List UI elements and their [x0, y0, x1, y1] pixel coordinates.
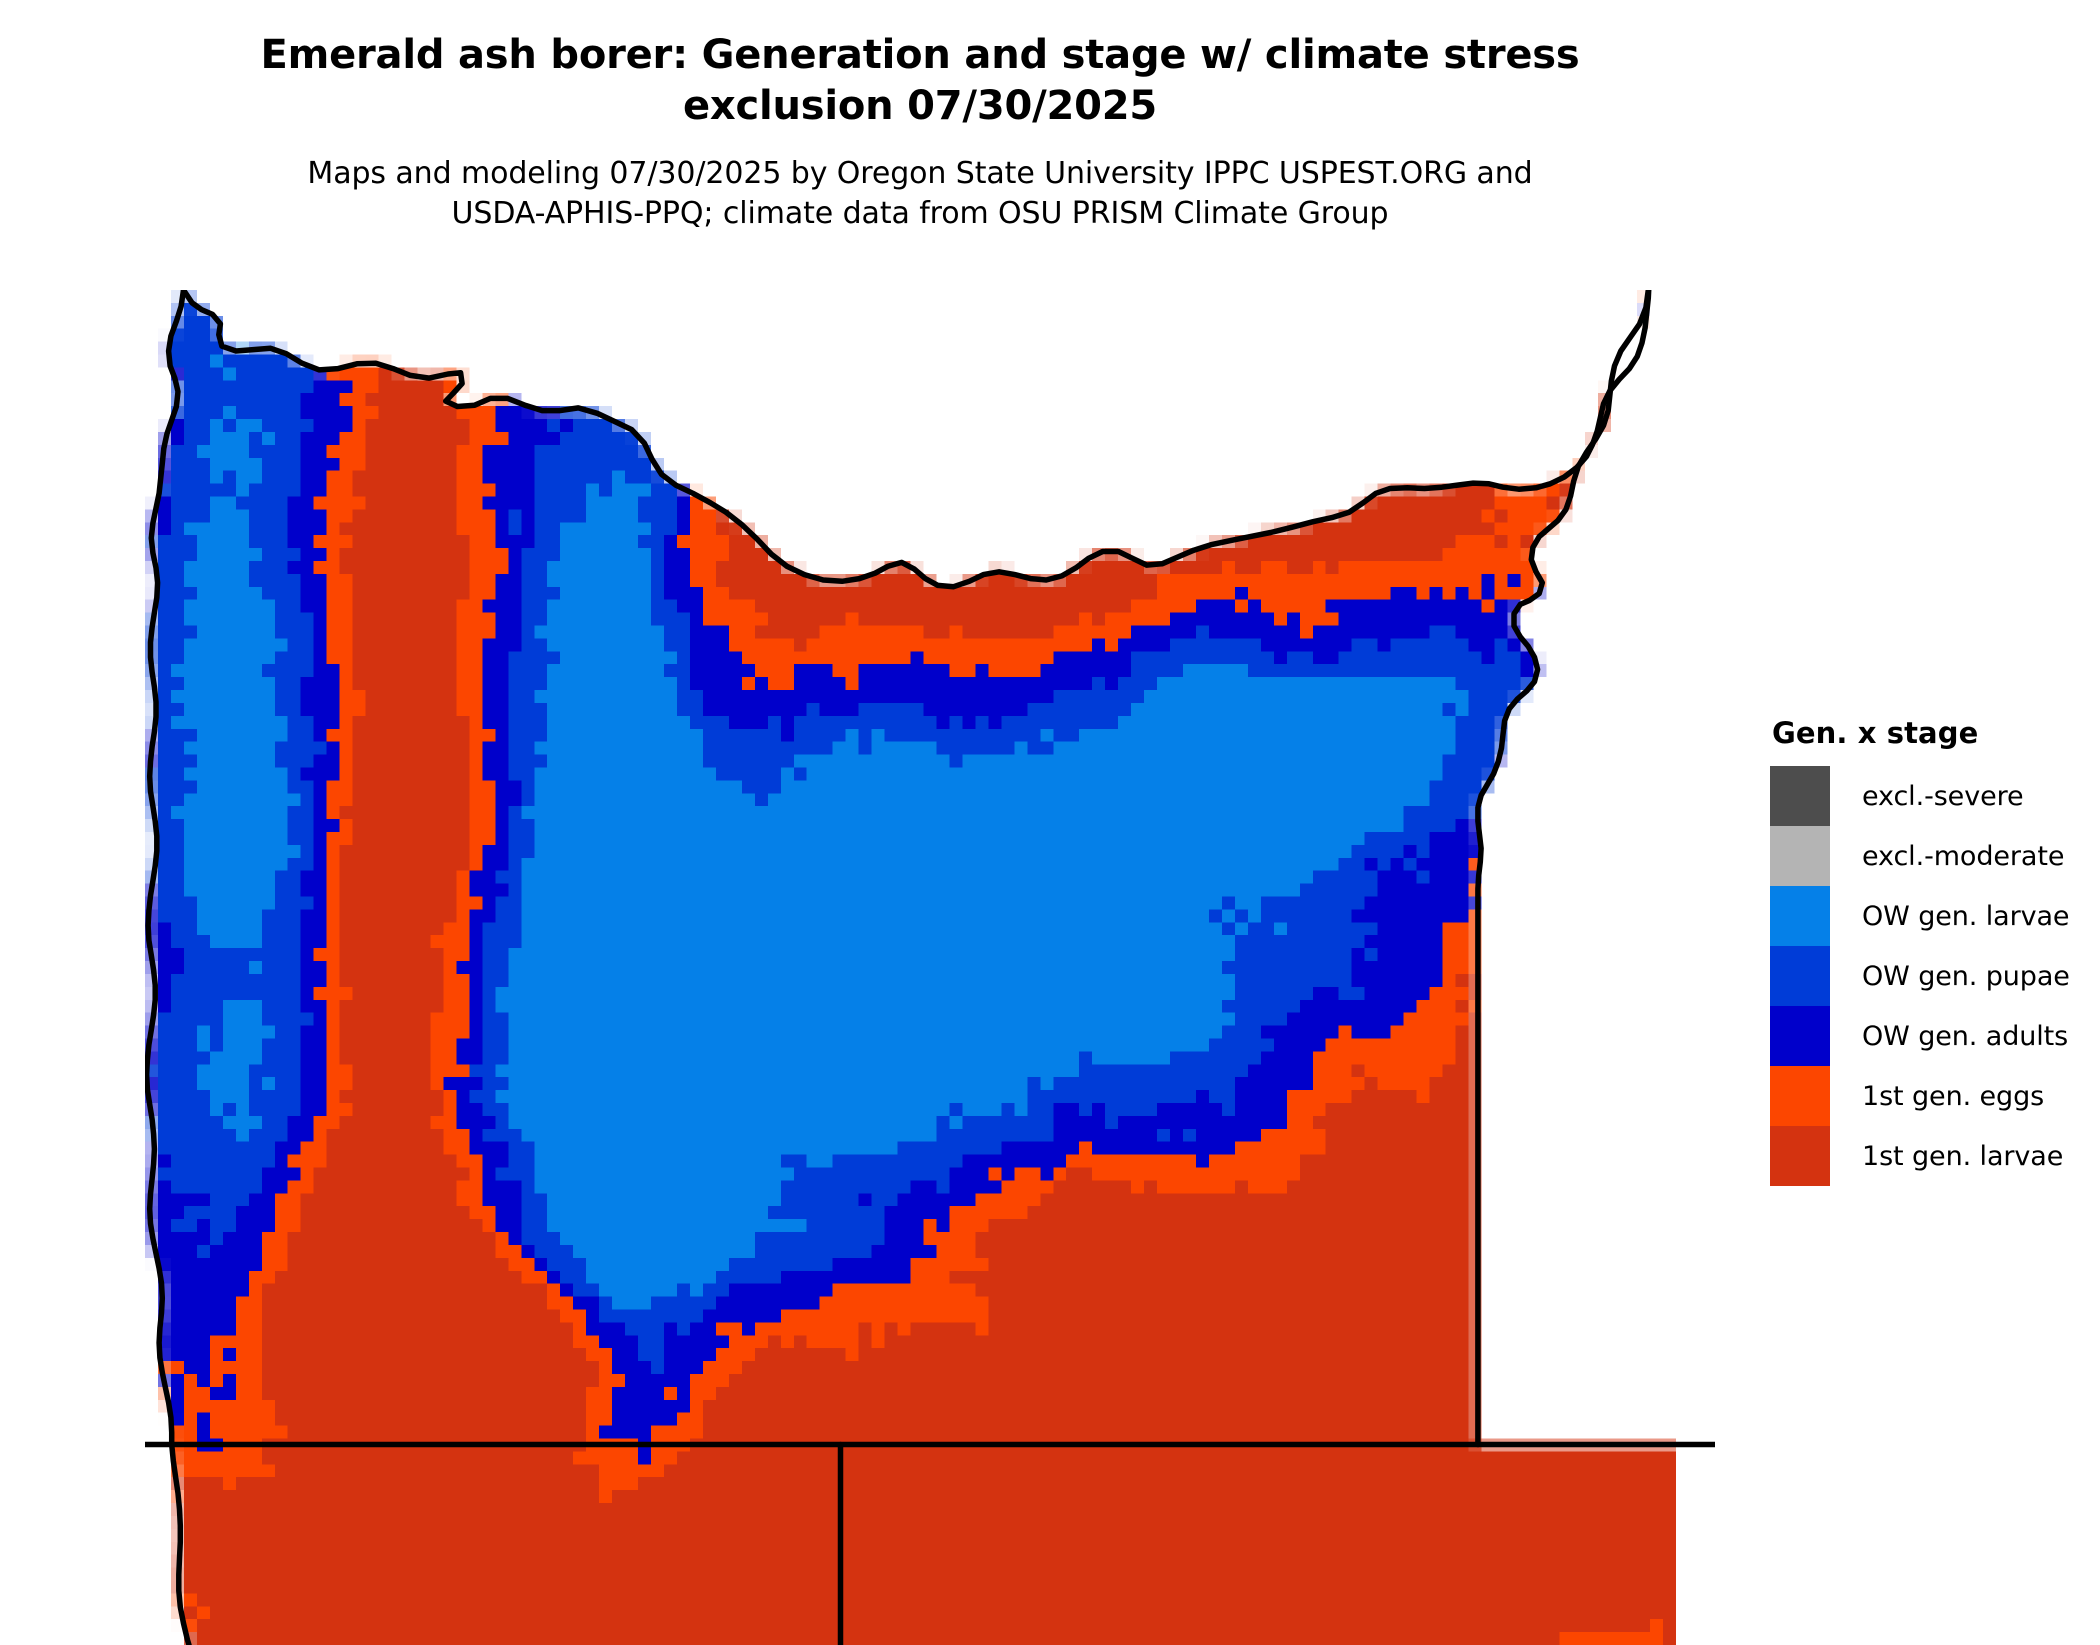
legend-label: OW gen. adults	[1862, 1021, 2068, 1052]
legend-label: excl.-moderate	[1862, 841, 2064, 872]
legend-item: OW gen. pupae	[1770, 946, 2090, 1006]
legend-item: OW gen. larvae	[1770, 886, 2090, 946]
page-subtitle: Maps and modeling 07/30/2025 by Oregon S…	[120, 154, 1720, 234]
legend: Gen. x stage excl.-severeexcl.-moderateO…	[1770, 716, 2090, 1186]
legend-swatch	[1770, 946, 1830, 1006]
page-title-line-1: Emerald ash borer: Generation and stage …	[120, 30, 1720, 81]
legend-label: excl.-severe	[1862, 781, 2024, 812]
legend-swatch	[1770, 1066, 1830, 1126]
page-title: Emerald ash borer: Generation and stage …	[120, 30, 1720, 132]
legend-label: 1st gen. eggs	[1862, 1081, 2044, 1112]
legend-label: OW gen. pupae	[1862, 961, 2070, 992]
map-page: Emerald ash borer: Generation and stage …	[0, 0, 2100, 1645]
legend-item: excl.-moderate	[1770, 826, 2090, 886]
generation-stage-raster	[145, 290, 1715, 1645]
map-panel[interactable]	[145, 290, 1715, 1645]
legend-label: 1st gen. larvae	[1862, 1141, 2063, 1172]
legend-item: OW gen. adults	[1770, 1006, 2090, 1066]
legend-label: OW gen. larvae	[1862, 901, 2069, 932]
legend-swatch	[1770, 826, 1830, 886]
legend-items: excl.-severeexcl.-moderateOW gen. larvae…	[1770, 766, 2090, 1186]
legend-swatch	[1770, 886, 1830, 946]
legend-swatch	[1770, 1006, 1830, 1066]
legend-swatch	[1770, 766, 1830, 826]
title-block: Emerald ash borer: Generation and stage …	[120, 30, 1720, 234]
page-subtitle-line-2: USDA-APHIS-PPQ; climate data from OSU PR…	[120, 194, 1720, 234]
legend-item: excl.-severe	[1770, 766, 2090, 826]
legend-item: 1st gen. larvae	[1770, 1126, 2090, 1186]
page-title-line-2: exclusion 07/30/2025	[120, 81, 1720, 132]
legend-title: Gen. x stage	[1772, 716, 2090, 750]
legend-swatch	[1770, 1126, 1830, 1186]
legend-item: 1st gen. eggs	[1770, 1066, 2090, 1126]
page-subtitle-line-1: Maps and modeling 07/30/2025 by Oregon S…	[120, 154, 1720, 194]
